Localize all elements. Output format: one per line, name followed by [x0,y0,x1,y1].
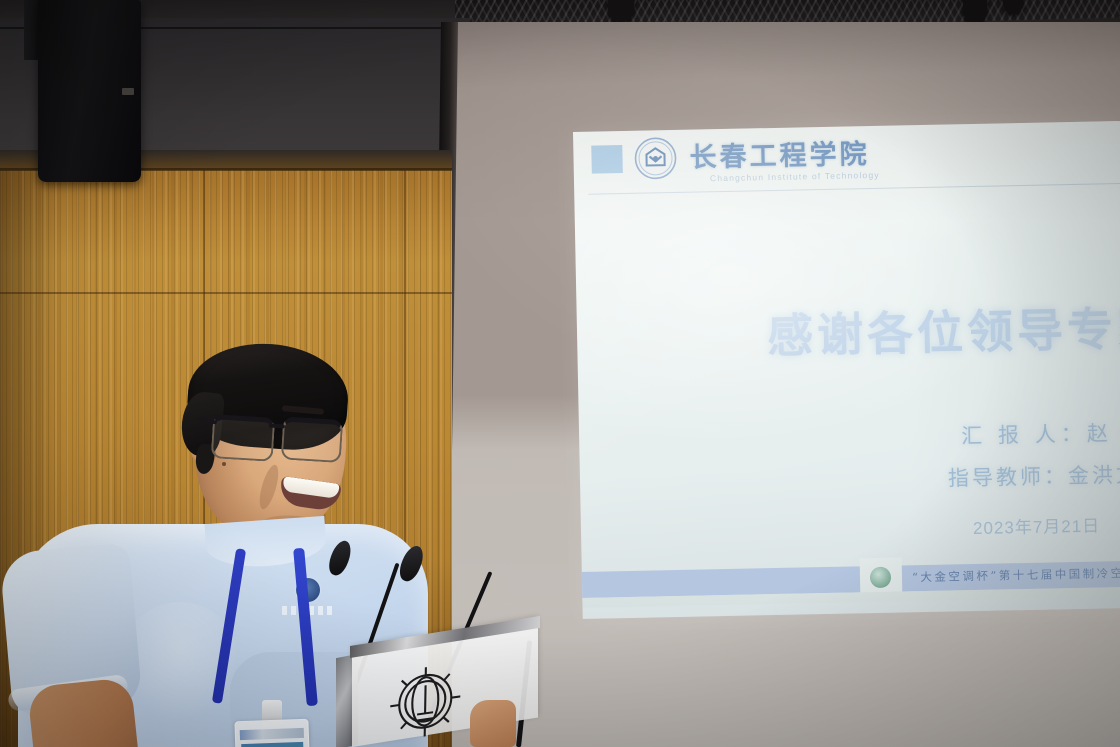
screen-glare [573,121,1120,619]
hand [470,700,516,747]
gear-emblem-sign-icon [377,654,474,747]
projection-screen: 长春工程学院 Changchun Institute of Technology… [573,121,1120,619]
badge-card [241,742,305,747]
wall-mounted-loudspeaker [38,0,141,182]
glasses-lens-right [281,416,344,463]
wood-panel-seam [0,292,452,294]
badge-header-strip [240,728,304,740]
presentation-photo: 长春工程学院 Changchun Institute of Technology… [0,0,1120,747]
glasses-lens-left [211,414,276,462]
browline-glasses-icon [197,409,356,466]
speaker-brand-logo [122,88,134,95]
participant-name-badge [234,719,311,747]
face-mole [222,462,226,466]
